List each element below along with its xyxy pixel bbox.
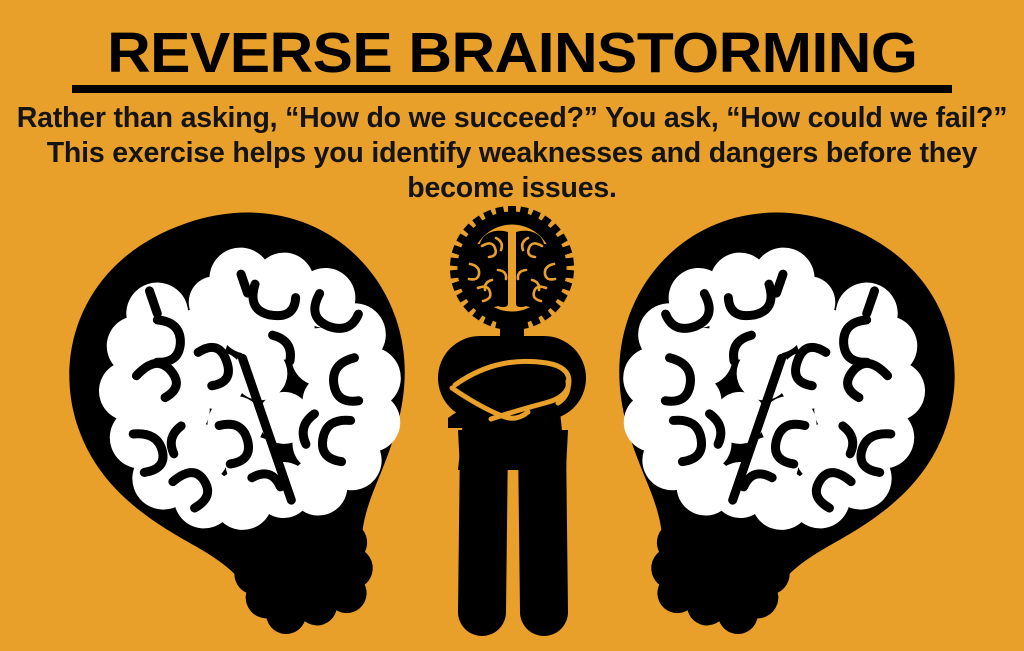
poster-canvas: REVERSE BRAINSTORMING Rather than asking…: [0, 0, 1024, 651]
title-underline: [72, 85, 952, 93]
poster-subtitle: Rather than asking, “How do we succeed?”…: [7, 101, 1017, 206]
figure-crossed-arms: [438, 336, 586, 428]
figure-body: [458, 392, 568, 636]
artwork-stage: [0, 0, 1024, 651]
header-block: REVERSE BRAINSTORMING Rather than asking…: [0, 0, 1024, 63]
page-title: REVERSE BRAINSTORMING: [107, 24, 917, 87]
person-icon: [0, 0, 1024, 651]
gear-icon: [450, 206, 574, 330]
